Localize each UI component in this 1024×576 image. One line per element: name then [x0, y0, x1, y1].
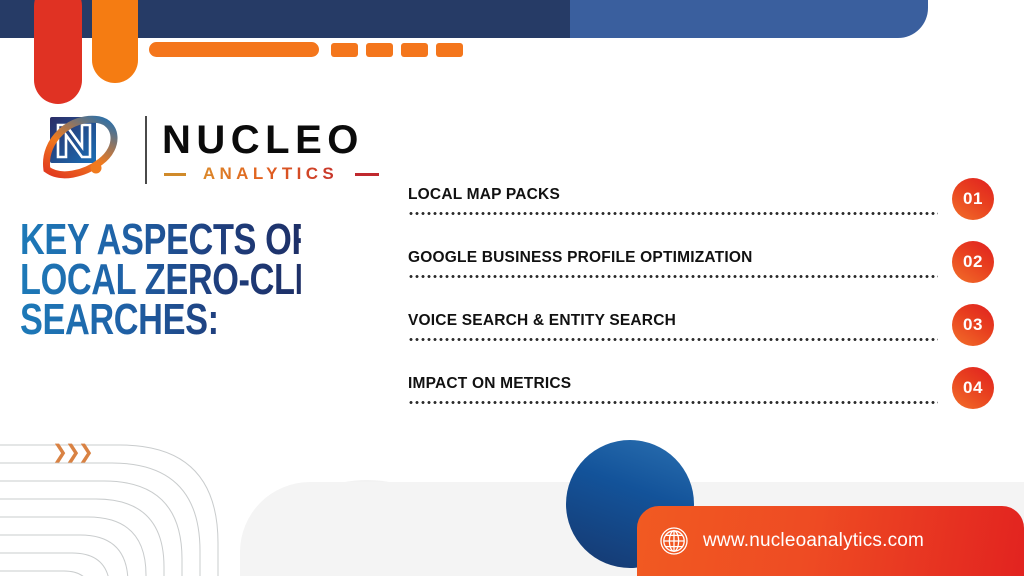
chevrons-icon: ❯❯❯: [52, 443, 91, 462]
slide-canvas: NUCLEO ANALYTICS KEY ASPECTS OF LOCAL ZE…: [0, 0, 1024, 576]
brand-name: NUCLEO: [162, 118, 364, 162]
list-item-label: GOOGLE BUSINESS PROFILE OPTIMIZATION: [408, 249, 752, 267]
list-item[interactable]: VOICE SEARCH & ENTITY SEARCH 03: [404, 304, 994, 367]
top-blue-bar: [570, 0, 928, 38]
key-aspects-list: LOCAL MAP PACKS 01 GOOGLE BUSINESS PROFI…: [404, 178, 994, 430]
brand-tagline: ANALYTICS: [186, 164, 355, 184]
concentric-arc-lines: [0, 430, 250, 576]
list-item-label: LOCAL MAP PACKS: [408, 186, 560, 204]
page-title: KEY ASPECTS OF LOCAL ZERO-CLICK SEARCHES…: [20, 220, 301, 340]
orange-pill-shape: [92, 0, 138, 83]
list-item-number-badge: 04: [952, 367, 994, 409]
website-url: www.nucleoanalytics.com: [703, 530, 924, 552]
page-title-line-3: SEARCHES:: [20, 300, 301, 340]
orange-dash-bar: [149, 42, 319, 57]
list-item-label: IMPACT ON METRICS: [408, 375, 571, 393]
orange-square-3: [401, 43, 428, 57]
page-title-line-1: KEY ASPECTS OF: [20, 220, 301, 260]
orange-square-4: [436, 43, 463, 57]
orange-square-1: [331, 43, 358, 57]
brand-tagline-row: ANALYTICS: [164, 164, 379, 184]
globe-icon: [659, 526, 689, 556]
nucleo-atom-n-logo-icon: [36, 112, 132, 188]
red-pill-shape: [34, 0, 82, 104]
list-item-number-badge: 01: [952, 178, 994, 220]
list-item-number-badge: 03: [952, 304, 994, 346]
orange-square-2: [366, 43, 393, 57]
tagline-dash-left: [164, 173, 186, 176]
brand-logo: NUCLEO ANALYTICS: [36, 112, 366, 188]
list-item[interactable]: IMPACT ON METRICS 04: [404, 367, 994, 430]
list-item-dotted-rule: [408, 212, 938, 215]
list-item-dotted-rule: [408, 275, 938, 278]
list-item-label: VOICE SEARCH & ENTITY SEARCH: [408, 312, 676, 330]
tagline-dash-right: [355, 173, 379, 176]
list-item-dotted-rule: [408, 401, 938, 404]
list-item[interactable]: GOOGLE BUSINESS PROFILE OPTIMIZATION 02: [404, 241, 994, 304]
list-item-dotted-rule: [408, 338, 938, 341]
list-item[interactable]: LOCAL MAP PACKS 01: [404, 178, 994, 241]
top-navy-bar: [0, 0, 578, 38]
list-item-number-badge: 02: [952, 241, 994, 283]
page-title-line-2: LOCAL ZERO-CLICK: [20, 260, 301, 300]
logo-divider: [145, 116, 147, 184]
website-banner[interactable]: www.nucleoanalytics.com: [637, 506, 1024, 576]
